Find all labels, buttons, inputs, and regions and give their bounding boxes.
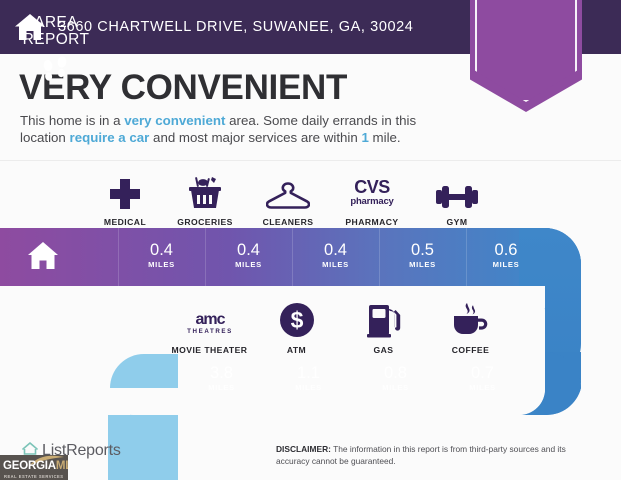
category-label: GAS (374, 345, 394, 355)
svg-text:CVS: CVS (354, 177, 390, 197)
svg-text:$: $ (290, 307, 303, 333)
distance-value: 3.8 (178, 364, 265, 382)
mls-tagline: REAL ESTATE SERVICES (4, 474, 64, 479)
category-movie-theater: amc THEATRES MOVIE THEATER (166, 300, 253, 355)
category-label: GYM (447, 217, 468, 227)
distance-unit: MILES (466, 260, 546, 269)
category-label: PHARMACY (345, 217, 398, 227)
mls-wordmark: GEORGIAMLS (3, 460, 68, 472)
home-marker-icon (26, 240, 60, 277)
atm-dollar-icon: $ (279, 300, 315, 338)
distance-value: 0.7 (439, 364, 526, 382)
disclaimer: DISCLAIMER: The information in this repo… (276, 444, 596, 467)
distance-cleaners: 0.4 MILES (292, 241, 379, 269)
distance-unit: MILES (118, 260, 205, 269)
category-medical: MEDICAL (87, 172, 163, 227)
distance-unit: MILES (352, 383, 439, 392)
category-label: ATM (287, 345, 306, 355)
distance-coffee: 0.7 MILES (439, 364, 526, 392)
distance-value: 0.4 (205, 241, 292, 259)
distance-groceries: 0.4 MILES (205, 241, 292, 269)
distance-atm: 1.1 MILES (265, 364, 352, 392)
category-coffee: COFFEE (427, 300, 514, 355)
summary-fragment: This home is in a (20, 113, 124, 128)
category-pharmacy: CVS pharmacy PHARMACY (329, 172, 415, 227)
summary-highlight: require a car (70, 130, 150, 145)
area-report-badge (470, 0, 582, 112)
category-label: GROCERIES (177, 217, 233, 227)
svg-text:amc: amc (195, 311, 225, 328)
distance-unit: MILES (265, 383, 352, 392)
georgia-mls-logo: GEORGIAMLS REAL ESTATE SERVICES (0, 455, 68, 480)
distance-movie-theater: 3.8 MILES (178, 364, 265, 392)
distance-gym: 0.6 MILES (466, 241, 546, 269)
category-cleaners: CLEANERS (247, 172, 329, 227)
distance-pharmacy: 0.5 MILES (379, 241, 466, 269)
section-divider (0, 160, 621, 161)
category-label: CLEANERS (263, 217, 314, 227)
category-gas: GAS (340, 300, 427, 355)
distance-unit: MILES (178, 383, 265, 392)
grocery-basket-icon (187, 172, 223, 210)
category-icon-row-1: MEDICAL (87, 172, 499, 227)
category-label: MEDICAL (104, 217, 146, 227)
distance-unit: MILES (439, 383, 526, 392)
category-label: COFFEE (452, 345, 490, 355)
gas-pump-icon (367, 300, 401, 338)
summary-fragment: mile. (369, 130, 401, 145)
coffee-cup-icon (451, 300, 491, 338)
category-groceries: GROCERIES (163, 172, 247, 227)
distance-unit: MILES (292, 260, 379, 269)
category-icon-row-2: amc THEATRES MOVIE THEATER $ ATM (166, 300, 514, 355)
area-report-infographic: 3660 CHARTWELL DRIVE, SUWANEE, GA, 30024… (0, 0, 621, 480)
category-gym: GYM (415, 172, 499, 227)
badge-title: AREA REPORT (0, 14, 112, 48)
summary-fragment: and most major services are within (149, 130, 361, 145)
svg-text:THEATRES: THEATRES (187, 328, 233, 335)
summary-text: This home is in a very convenient area. … (20, 113, 445, 146)
distance-unit: MILES (379, 260, 466, 269)
badge-outline (475, 0, 577, 102)
distance-value: 0.4 (118, 241, 205, 259)
medical-cross-icon (109, 172, 141, 210)
svg-text:pharmacy: pharmacy (350, 196, 394, 207)
badge-line-1: AREA (0, 14, 112, 31)
badge-line-2: REPORT (0, 31, 112, 48)
cvs-pharmacy-icon: CVS pharmacy (342, 172, 402, 210)
distance-value: 0.4 (292, 241, 379, 259)
category-label: MOVIE THEATER (172, 345, 248, 355)
clothes-hanger-icon (266, 172, 310, 210)
footprints-icon (0, 56, 112, 91)
disclaimer-label: DISCLAIMER: (276, 444, 331, 454)
distance-gas: 0.8 MILES (352, 364, 439, 392)
distance-value: 0.8 (352, 364, 439, 382)
category-atm: $ ATM (253, 300, 340, 355)
distance-value: 0.6 (466, 241, 546, 259)
distance-medical: 0.4 MILES (118, 241, 205, 269)
distance-unit: MILES (205, 260, 292, 269)
distance-value: 0.5 (379, 241, 466, 259)
summary-highlight: 1 (361, 130, 368, 145)
distance-value: 1.1 (265, 364, 352, 382)
summary-highlight: very convenient (124, 113, 225, 128)
dumbbell-icon (435, 172, 479, 210)
amc-theatres-icon: amc THEATRES (182, 300, 238, 338)
